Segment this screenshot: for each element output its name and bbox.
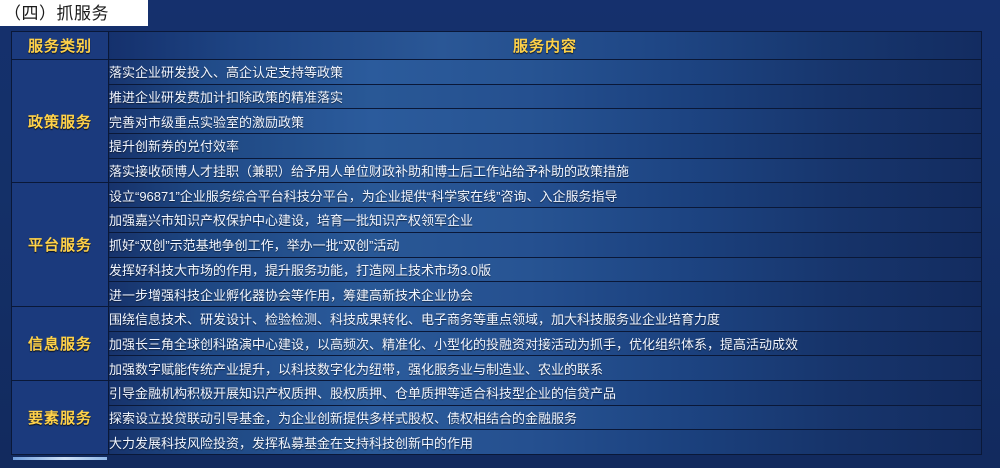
table-row: 平台服务设立“96871”企业服务综合平台科技分平台，为企业提供“科学家在线”咨… [12,183,982,208]
column-header-content: 服务内容 [109,32,982,60]
column-header-category: 服务类别 [12,32,109,60]
table-row: 进一步增强科技企业孵化器协会等作用，筹建高新技术企业协会 [12,282,982,307]
section-title-chip: （四）抓服务 [0,0,148,26]
content-cell: 围绕信息技术、研发设计、检验检测、科技成果转化、电子商务等重点领域，加大科技服务… [109,306,982,331]
table-row: 加强数字赋能传统产业提升，以科技数字化为纽带，强化服务业与制造业、农业的联系 [12,356,982,381]
content-cell: 落实接收硕博人才挂职（兼职）给予用人单位财政补助和博士后工作站给予补助的政策措施 [109,158,982,183]
content-cell: 引导金融机构积极开展知识产权质押、股权质押、仓单质押等适合科技型企业的信贷产品 [109,380,982,405]
table-row: 加强嘉兴市知识产权保护中心建设，培育一批知识产权领军企业 [12,208,982,233]
category-cell: 平台服务 [12,183,109,306]
table-row: 探索设立投贷联动引导基金，为企业创新提供多样式股权、债权相结合的金融服务 [12,405,982,430]
content-cell: 设立“96871”企业服务综合平台科技分平台，为企业提供“科学家在线”咨询、入企… [109,183,982,208]
content-cell: 加强数字赋能传统产业提升，以科技数字化为纽带，强化服务业与制造业、农业的联系 [109,356,982,381]
slide-canvas: （四）抓服务 服务类别 服务内容 政策服务落实企业研发投入、高企认定支持等政策推… [0,0,1000,468]
content-cell: 落实企业研发投入、高企认定支持等政策 [109,60,982,85]
table-row: 完善对市级重点实验室的激励政策 [12,109,982,134]
content-cell: 加强嘉兴市知识产权保护中心建设，培育一批知识产权领军企业 [109,208,982,233]
table-row: 信息服务围绕信息技术、研发设计、检验检测、科技成果转化、电子商务等重点领域，加大… [12,306,982,331]
table-row: 抓好“双创”示范基地争创工作，举办一批“双创”活动 [12,232,982,257]
content-cell: 发挥好科技大市场的作用，提升服务功能，打造网上技术市场3.0版 [109,257,982,282]
content-cell: 大力发展科技风险投资，发挥私募基金在支持科技创新中的作用 [109,430,982,455]
table-row: 提升创新券的兑付效率 [12,134,982,159]
table-header-row: 服务类别 服务内容 [12,32,982,60]
content-cell: 推进企业研发费加计扣除政策的精准落实 [109,84,982,109]
table-row: 政策服务落实企业研发投入、高企认定支持等政策 [12,60,982,85]
table-row: 要素服务引导金融机构积极开展知识产权质押、股权质押、仓单质押等适合科技型企业的信… [12,380,982,405]
category-cell: 信息服务 [12,306,109,380]
table-header: 服务类别 服务内容 [12,32,982,60]
content-cell: 提升创新券的兑付效率 [109,134,982,159]
content-cell: 抓好“双创”示范基地争创工作，举办一批“双创”活动 [109,232,982,257]
content-cell: 进一步增强科技企业孵化器协会等作用，筹建高新技术企业协会 [109,282,982,307]
category-cell: 政策服务 [12,60,109,183]
table-body: 政策服务落实企业研发投入、高企认定支持等政策推进企业研发费加计扣除政策的精准落实… [12,60,982,455]
bottom-accent-bar [13,457,107,460]
table-row: 大力发展科技风险投资，发挥私募基金在支持科技创新中的作用 [12,430,982,455]
category-cell: 要素服务 [12,380,109,454]
table-row: 加强长三角全球创科路演中心建设，以高频次、精准化、小型化的投融资对接活动为抓手，… [12,331,982,356]
page-title: （四）抓服务 [4,5,109,22]
content-cell: 完善对市级重点实验室的激励政策 [109,109,982,134]
table-row: 发挥好科技大市场的作用，提升服务功能，打造网上技术市场3.0版 [12,257,982,282]
content-cell: 探索设立投贷联动引导基金，为企业创新提供多样式股权、债权相结合的金融服务 [109,405,982,430]
service-table-wrapper: 服务类别 服务内容 政策服务落实企业研发投入、高企认定支持等政策推进企业研发费加… [11,31,981,455]
content-cell: 加强长三角全球创科路演中心建设，以高频次、精准化、小型化的投融资对接活动为抓手，… [109,331,982,356]
table-row: 推进企业研发费加计扣除政策的精准落实 [12,84,982,109]
table-row: 落实接收硕博人才挂职（兼职）给予用人单位财政补助和博士后工作站给予补助的政策措施 [12,158,982,183]
service-table: 服务类别 服务内容 政策服务落实企业研发投入、高企认定支持等政策推进企业研发费加… [11,31,982,455]
